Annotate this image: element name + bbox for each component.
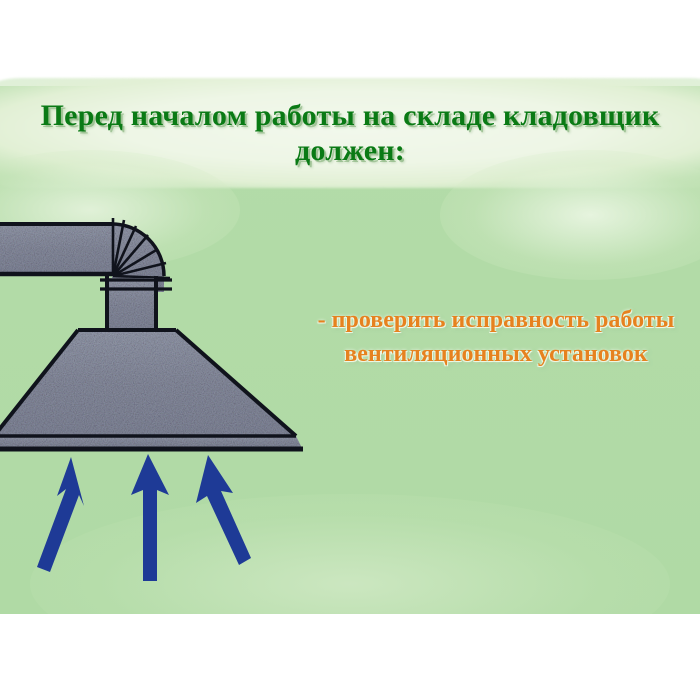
slide-bullet-text: - проверить исправность работы вентиляци… bbox=[300, 303, 692, 371]
airflow-arrow-center bbox=[131, 454, 169, 581]
hood-canopy bbox=[0, 330, 296, 436]
airflow-arrow-left bbox=[37, 457, 84, 572]
horizontal-duct bbox=[0, 224, 120, 274]
airflow-arrow-right bbox=[196, 455, 251, 565]
slide-top-white-band bbox=[0, 0, 700, 86]
slide-canvas: Перед началом работы на складе кладовщик… bbox=[0, 0, 700, 614]
hood-rim bbox=[0, 436, 303, 449]
ventilation-hood-illustration bbox=[0, 200, 330, 614]
slide-title: Перед началом работы на складе кладовщик… bbox=[0, 98, 700, 169]
